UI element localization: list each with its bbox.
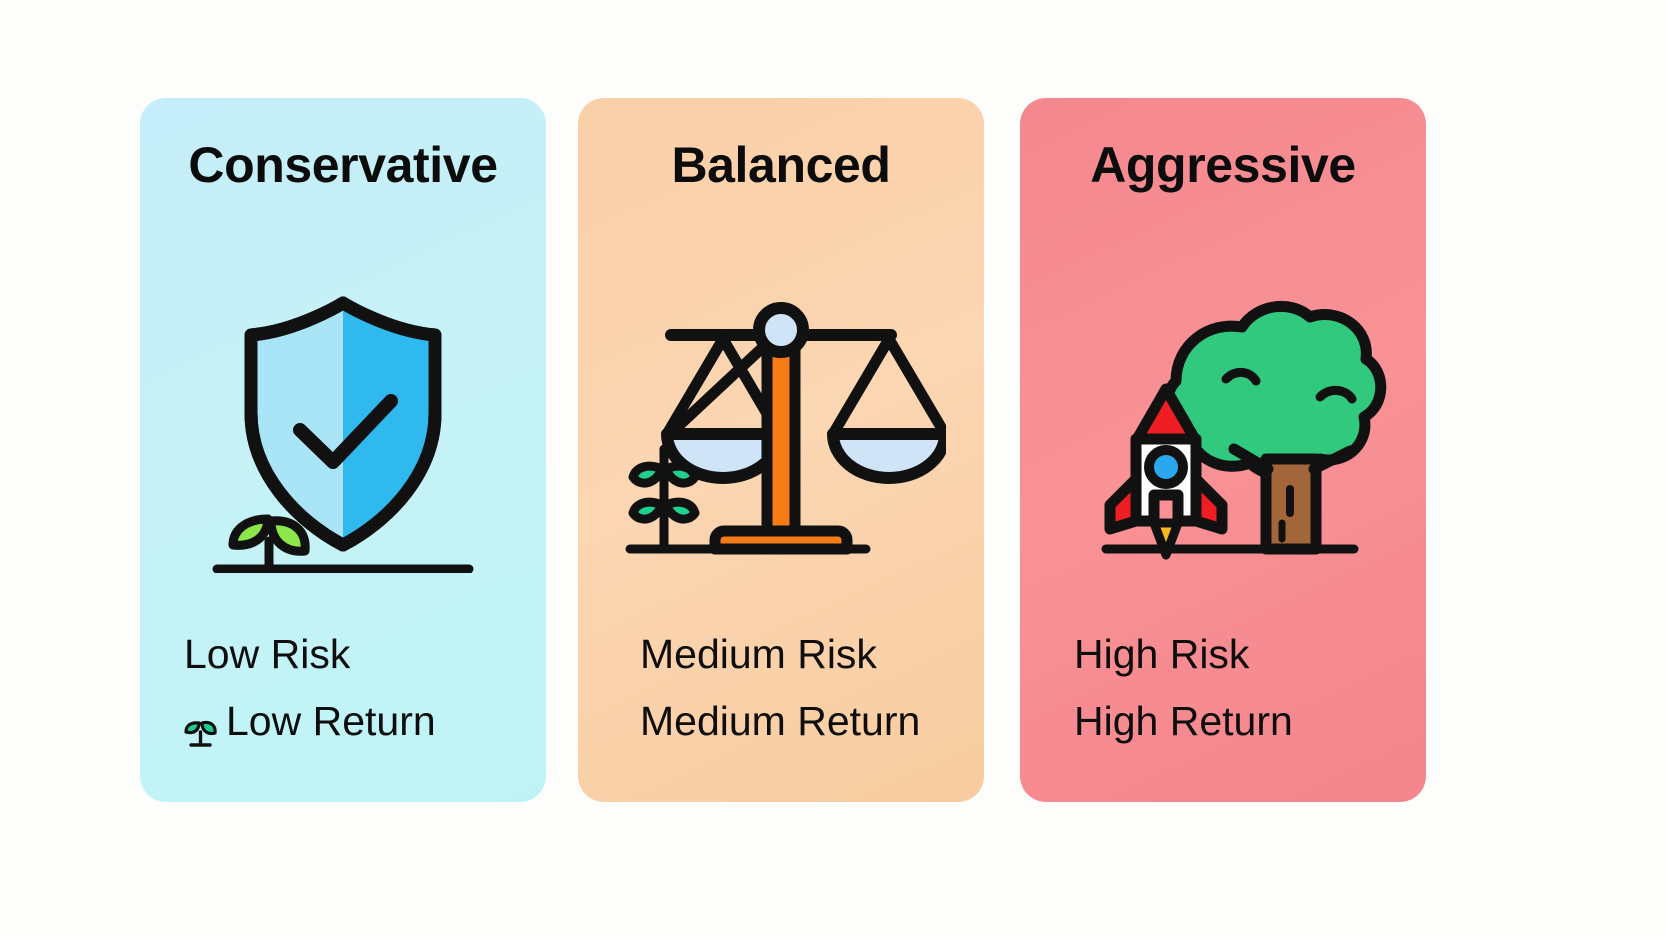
return-label-aggressive: High Return <box>1074 688 1426 754</box>
return-label-conservative: Low Return <box>184 688 546 754</box>
card-stats-aggressive: High Risk High Return <box>1020 621 1426 754</box>
card-title-balanced: Balanced <box>578 140 984 190</box>
card-stats-balanced: Medium Risk Medium Return <box>578 621 984 754</box>
return-text: Low Return <box>226 688 436 754</box>
rocket-tree-icon <box>1020 273 1426 623</box>
risk-text: High Risk <box>1074 621 1249 687</box>
card-conservative[interactable]: Conservative <box>140 98 546 802</box>
card-title-conservative: Conservative <box>140 140 546 190</box>
risk-label-conservative: Low Risk <box>184 621 546 687</box>
risk-text: Medium Risk <box>640 621 877 687</box>
risk-label-balanced: Medium Risk <box>640 621 984 687</box>
sprout-icon <box>184 701 218 741</box>
return-label-balanced: Medium Return <box>640 688 984 754</box>
comparison-board: Conservative <box>0 0 1666 937</box>
card-stats-conservative: Low Risk Low Return <box>140 621 546 754</box>
balance-scale-plant-icon <box>578 273 984 623</box>
risk-label-aggressive: High Risk <box>1074 621 1426 687</box>
return-text: High Return <box>1074 688 1293 754</box>
cards-row: Conservative <box>0 0 1666 937</box>
return-text: Medium Return <box>640 688 920 754</box>
shield-check-sprout-icon <box>140 273 546 623</box>
card-title-aggressive: Aggressive <box>1020 140 1426 190</box>
card-balanced[interactable]: Balanced <box>578 98 984 802</box>
card-aggressive[interactable]: Aggressive <box>1020 98 1426 802</box>
risk-text: Low Risk <box>184 621 350 687</box>
